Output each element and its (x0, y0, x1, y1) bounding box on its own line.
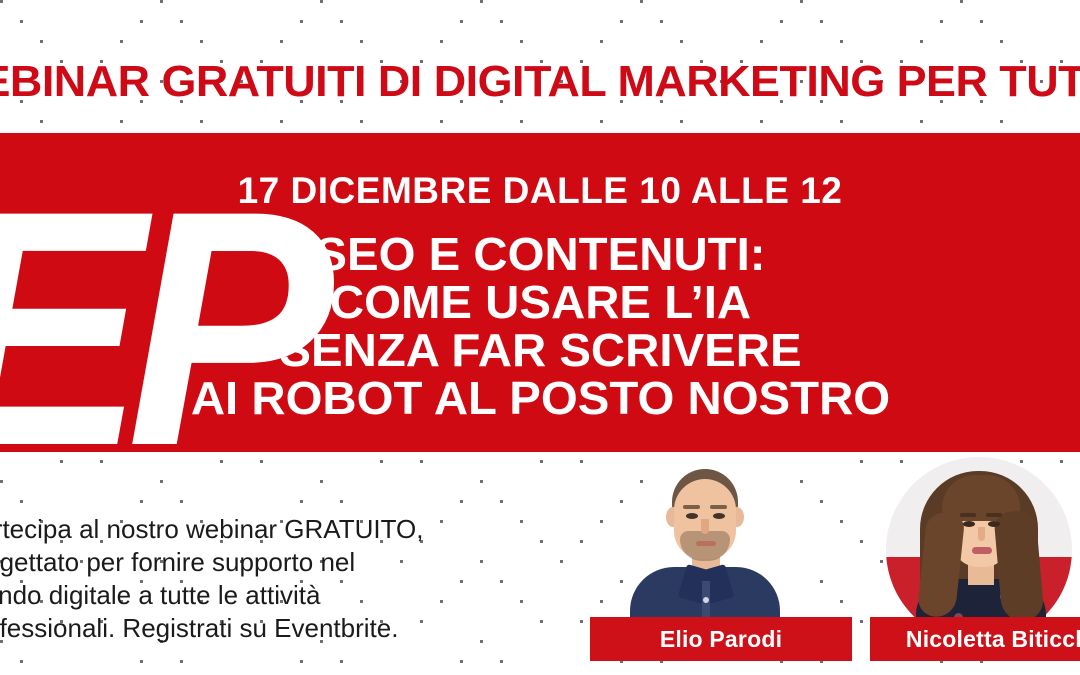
description-line-3: mondo digitale a tutte le attività (0, 579, 522, 612)
speaker-2-nose (978, 527, 985, 541)
speaker-photo-man (598, 455, 848, 640)
speaker-1-name: Elio Parodi (660, 626, 782, 652)
webinar-headline: SEO E CONTENUTI: COME USARE L’IA SENZA F… (201, 230, 880, 422)
description-line-2: progettato per fornire supporto nel (0, 546, 522, 579)
nameplate-speaker-2: Nicoletta Biticchi (870, 617, 1080, 661)
speaker-1-button-top (703, 597, 709, 603)
speaker-2-mouth (972, 547, 992, 554)
banner-content: 17 DICEMBRE DALLE 10 ALLE 12 SEO E CONTE… (0, 133, 1080, 452)
description-paragraph: Partecipa al nostro webinar GRATUITO, pr… (0, 513, 522, 645)
speaker-1-nose (701, 519, 709, 534)
speaker-1-brow-right (710, 505, 727, 509)
header-title-text: WEBINAR GRATUITI DI DIGITAL MARKETING PE… (0, 58, 1080, 106)
header-title: WEBINAR GRATUITI DI DIGITAL MARKETING PE… (0, 58, 1080, 106)
headline-line-1: SEO E CONTENUTI: (190, 230, 889, 278)
speaker-1-brow-left (683, 505, 700, 509)
headline-line-2: COME USARE L’IA (190, 278, 889, 326)
nameplate-speaker-1: Elio Parodi (590, 617, 852, 661)
speaker-1-mouth (696, 541, 716, 546)
red-banner: EP 17 DICEMBRE DALLE 10 ALLE 12 SEO E CO… (0, 133, 1080, 452)
description-line-4: professionali. Registrati su Eventbrite. (0, 612, 522, 645)
headline-line-4: AI ROBOT AL POSTO NOSTRO (190, 374, 889, 422)
speaker-photo-woman (880, 455, 1080, 640)
webinar-promo-poster: WEBINAR GRATUITI DI DIGITAL MARKETING PE… (0, 0, 1080, 675)
speaker-2-eye-left (963, 521, 975, 527)
description-line-1: Partecipa al nostro webinar GRATUITO, (0, 513, 522, 546)
speaker-2-eye-right (988, 521, 1000, 527)
speaker-2-brow-left (960, 513, 976, 517)
header-strip: WEBINAR GRATUITI DI DIGITAL MARKETING PE… (0, 0, 1080, 133)
speaker-2-brow-right (986, 513, 1002, 517)
speaker-1-eye-left (686, 513, 698, 519)
headline-line-3: SENZA FAR SCRIVERE (190, 326, 889, 374)
webinar-date-line: 17 DICEMBRE DALLE 10 ALLE 12 (238, 170, 843, 212)
speaker-1-eye-right (713, 513, 725, 519)
speaker-2-name: Nicoletta Biticchi (906, 626, 1080, 652)
